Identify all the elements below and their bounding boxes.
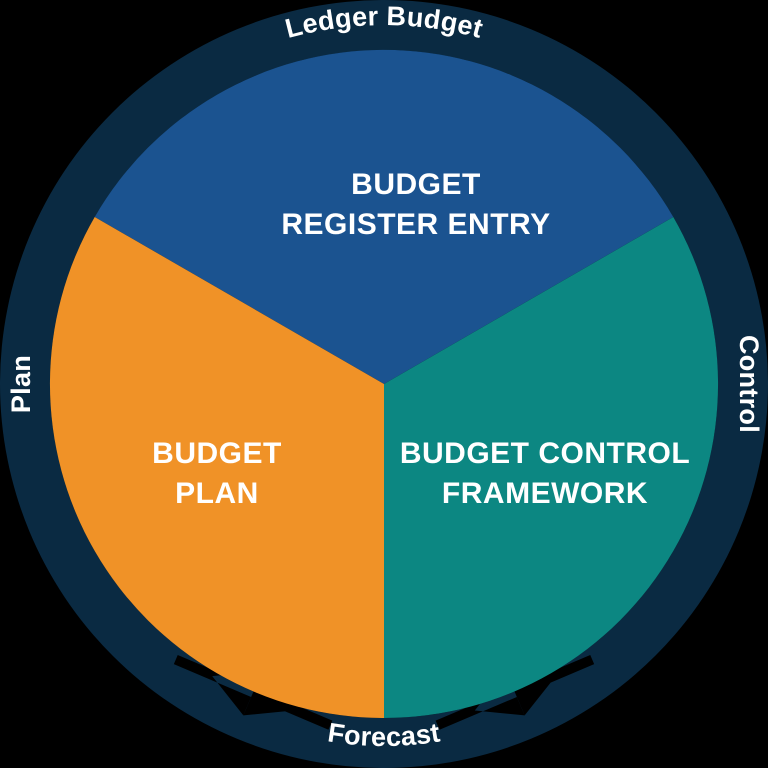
sector-label-line1: BUDGET xyxy=(351,168,481,201)
cycle-diagram-canvas: BUDGET REGISTER ENTRY BUDGET CONTROL FRA… xyxy=(0,0,768,768)
sector-label-line2: REGISTER ENTRY xyxy=(281,208,550,241)
sector-label-line2: FRAMEWORK xyxy=(442,477,648,510)
sector-label-line2: PLAN xyxy=(175,477,259,510)
sector-label-line1: BUDGET CONTROL xyxy=(400,437,690,470)
sector-label-line1: BUDGET xyxy=(152,437,282,470)
budget-cycle-diagram: BUDGET REGISTER ENTRY BUDGET CONTROL FRA… xyxy=(0,0,768,768)
ring-label-forecast-text: Forecast xyxy=(326,717,442,752)
ring-label-forecast: Forecast xyxy=(326,717,442,752)
ring-label-plan: Plan xyxy=(6,355,36,413)
ring-label-control: Control xyxy=(734,335,764,433)
